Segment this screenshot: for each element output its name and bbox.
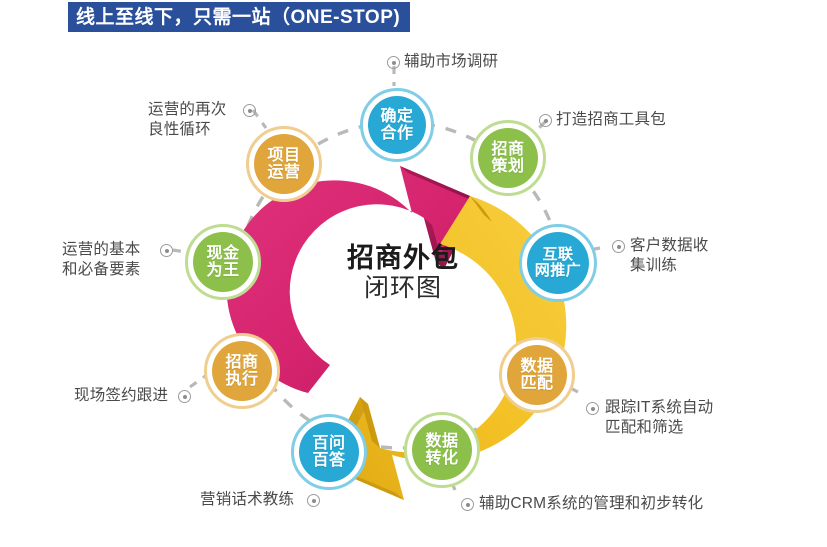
annot-crm-bullet-icon (461, 498, 474, 511)
node-confirm-cooperation-label: 确定 合作 (380, 108, 413, 143)
node-investment-planning-label: 招商 策划 (491, 141, 524, 176)
annot-toolkit-bullet-icon (539, 114, 552, 127)
annot-virtuous-cycle-bullet-icon (243, 104, 256, 117)
annot-it-tracking: 跟踪IT系统自动 匹配和筛选 (605, 398, 713, 439)
annot-market-research-bullet-icon (387, 56, 400, 69)
annot-onsite-signing: 现场签约跟进 (74, 386, 168, 406)
node-data-conversion[interactable]: 数据 转化 (404, 412, 480, 488)
node-investment-planning-fill: 招商 策划 (478, 128, 538, 188)
node-data-matching-fill: 数据 匹配 (507, 345, 567, 405)
annot-operation-basics: 运营的基本 和必备要素 (62, 240, 141, 281)
annot-sales-script: 营销话术教练 (200, 490, 294, 510)
node-confirm-cooperation-fill: 确定 合作 (368, 96, 426, 154)
node-cash-is-king-fill: 现金 为王 (193, 232, 253, 292)
node-hundred-qa[interactable]: 百问 百答 (291, 414, 367, 490)
annot-operation-basics-bullet-icon (160, 244, 173, 257)
annot-customer-data: 客户数据收 集训练 (630, 236, 709, 277)
node-confirm-cooperation[interactable]: 确定 合作 (360, 88, 434, 162)
node-project-operation[interactable]: 项目 运营 (246, 126, 322, 202)
node-investment-planning[interactable]: 招商 策划 (470, 120, 546, 196)
annot-market-research: 辅助市场调研 (404, 52, 498, 72)
node-hundred-qa-fill: 百问 百答 (299, 422, 359, 482)
annot-it-tracking-bullet-icon (586, 402, 599, 415)
node-project-operation-fill: 项目 运营 (254, 134, 314, 194)
node-cash-is-king-label: 现金 为王 (206, 245, 239, 280)
node-hundred-qa-label: 百问 百答 (312, 435, 345, 470)
node-cash-is-king[interactable]: 现金 为王 (185, 224, 261, 300)
node-investment-execution-label: 招商 执行 (225, 354, 258, 389)
annot-customer-data-bullet-icon (612, 240, 625, 253)
node-data-conversion-label: 数据 转化 (425, 433, 458, 468)
closed-loop-diagram: 招商外包 闭环图 确定 合作招商 策划互联 网推广数据 匹配数据 转化百问 百答… (0, 0, 827, 547)
node-investment-execution[interactable]: 招商 执行 (204, 333, 280, 409)
node-data-matching-label: 数据 匹配 (520, 358, 553, 393)
annot-onsite-signing-bullet-icon (178, 390, 191, 403)
annot-crm: 辅助CRM系统的管理和初步转化 (479, 494, 703, 514)
node-project-operation-label: 项目 运营 (267, 147, 300, 182)
node-internet-promotion[interactable]: 互联 网推广 (519, 224, 597, 302)
node-data-conversion-fill: 数据 转化 (412, 420, 472, 480)
node-internet-promotion-fill: 互联 网推广 (527, 232, 589, 294)
node-investment-execution-fill: 招商 执行 (212, 341, 272, 401)
node-internet-promotion-label: 互联 网推广 (535, 247, 582, 279)
annot-toolkit: 打造招商工具包 (556, 110, 666, 130)
annot-sales-script-bullet-icon (307, 494, 320, 507)
annot-virtuous-cycle: 运营的再次 良性循环 (148, 100, 227, 141)
node-data-matching[interactable]: 数据 匹配 (499, 337, 575, 413)
